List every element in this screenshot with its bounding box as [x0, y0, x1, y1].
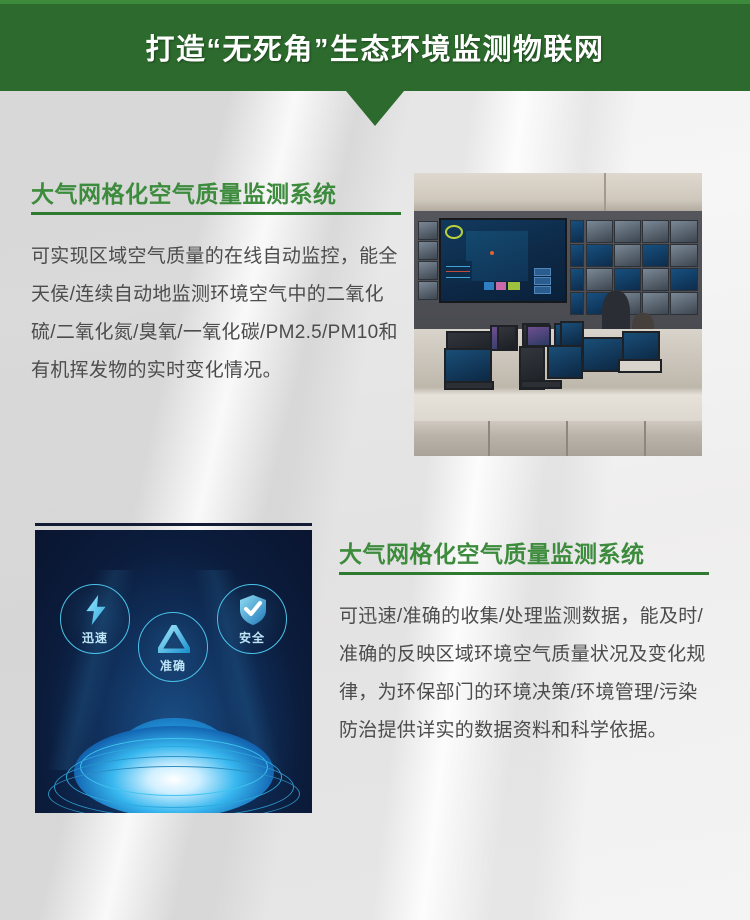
wall-monitor — [642, 220, 669, 243]
section-2-body-text: 可迅速/准确的收集/处理监测数据，能及时/准确的反映区域环境空气质量状况及变化规… — [339, 598, 714, 750]
page-root: 打造“无死角”生态环境监测物联网 大气网格化空气质量监测系统 可实现区域空气质量… — [0, 0, 750, 920]
screen-chip — [484, 282, 494, 290]
front-counter — [414, 421, 702, 456]
section-2-heading: 大气网格化空气质量监测系统 — [339, 535, 645, 569]
ceiling — [414, 173, 702, 211]
screen-button — [534, 277, 551, 285]
desk-monitor — [497, 325, 517, 351]
badge-circle-accurate: 准确 — [138, 612, 208, 682]
wall-monitor — [614, 220, 641, 243]
screen-chip — [496, 282, 506, 290]
chart-panel — [444, 261, 472, 283]
badge-circle-fast: 迅速 — [60, 584, 130, 654]
dome-ring — [48, 766, 300, 813]
wall-monitor — [570, 244, 584, 267]
badge-label-fast: 迅速 — [61, 629, 129, 646]
counter-seam — [644, 421, 646, 456]
badge-label-safe: 安全 — [218, 629, 286, 646]
wall-tile — [418, 261, 438, 280]
control-room-photo — [414, 173, 702, 456]
lightning-bolt-icon — [83, 595, 109, 625]
tech-dome-top-edge — [35, 523, 312, 526]
map-marker-icon — [490, 251, 494, 255]
keyboard — [444, 381, 494, 390]
badge-label-accurate: 准确 — [139, 657, 207, 674]
wall-monitor — [570, 268, 584, 291]
header-banner: 打造“无死角”生态环境监测物联网 — [0, 0, 750, 91]
page-title: 打造“无死角”生态环境监测物联网 — [0, 26, 750, 68]
map-panel — [466, 231, 528, 281]
keyboard — [618, 359, 662, 373]
wall-monitor — [670, 292, 698, 315]
tech-dome-illustration: 迅速 准确 — [35, 530, 312, 813]
wall-monitor — [586, 244, 613, 267]
wall-monitor — [642, 244, 669, 267]
wall-monitor — [614, 268, 641, 291]
wall-monitor — [570, 220, 584, 243]
wall-tile — [418, 241, 438, 260]
section-1-body-text: 可实现区域空气质量的在线自动监控，能全天侯/连续自动地监测环境空气中的二氧化硫/… — [31, 238, 405, 390]
triangle-icon — [158, 625, 190, 653]
wall-tile — [418, 221, 438, 240]
wall-monitor — [586, 268, 613, 291]
screen-button — [534, 268, 551, 276]
desk-monitor — [547, 345, 583, 379]
section-2-divider — [339, 572, 709, 575]
shield-check-icon — [238, 594, 268, 626]
wall-monitor — [670, 268, 698, 291]
wall-tile — [418, 281, 438, 300]
desk-monitor — [526, 325, 551, 347]
desk-monitor — [444, 348, 492, 384]
wall-monitor — [586, 220, 613, 243]
wall-monitor — [642, 292, 669, 315]
screen-button — [534, 286, 551, 294]
counter-seam — [566, 421, 568, 456]
keyboard — [520, 380, 562, 389]
ceiling-seam — [604, 173, 606, 211]
wall-monitor — [670, 244, 698, 267]
badge-circle-safe: 安全 — [217, 584, 287, 654]
desk-monitor — [560, 321, 584, 347]
wall-monitor — [570, 292, 584, 315]
section-1-heading: 大气网格化空气质量监测系统 — [31, 175, 337, 209]
banner-top-strip — [0, 0, 750, 4]
wall-monitor — [614, 244, 641, 267]
screen-chip — [508, 282, 520, 290]
counter-seam — [488, 421, 490, 456]
gauge-icon — [445, 225, 463, 239]
banner-arrow-notch-icon — [346, 91, 404, 126]
wall-monitor — [670, 220, 698, 243]
section-1-divider — [31, 212, 401, 215]
wall-monitor — [642, 268, 669, 291]
